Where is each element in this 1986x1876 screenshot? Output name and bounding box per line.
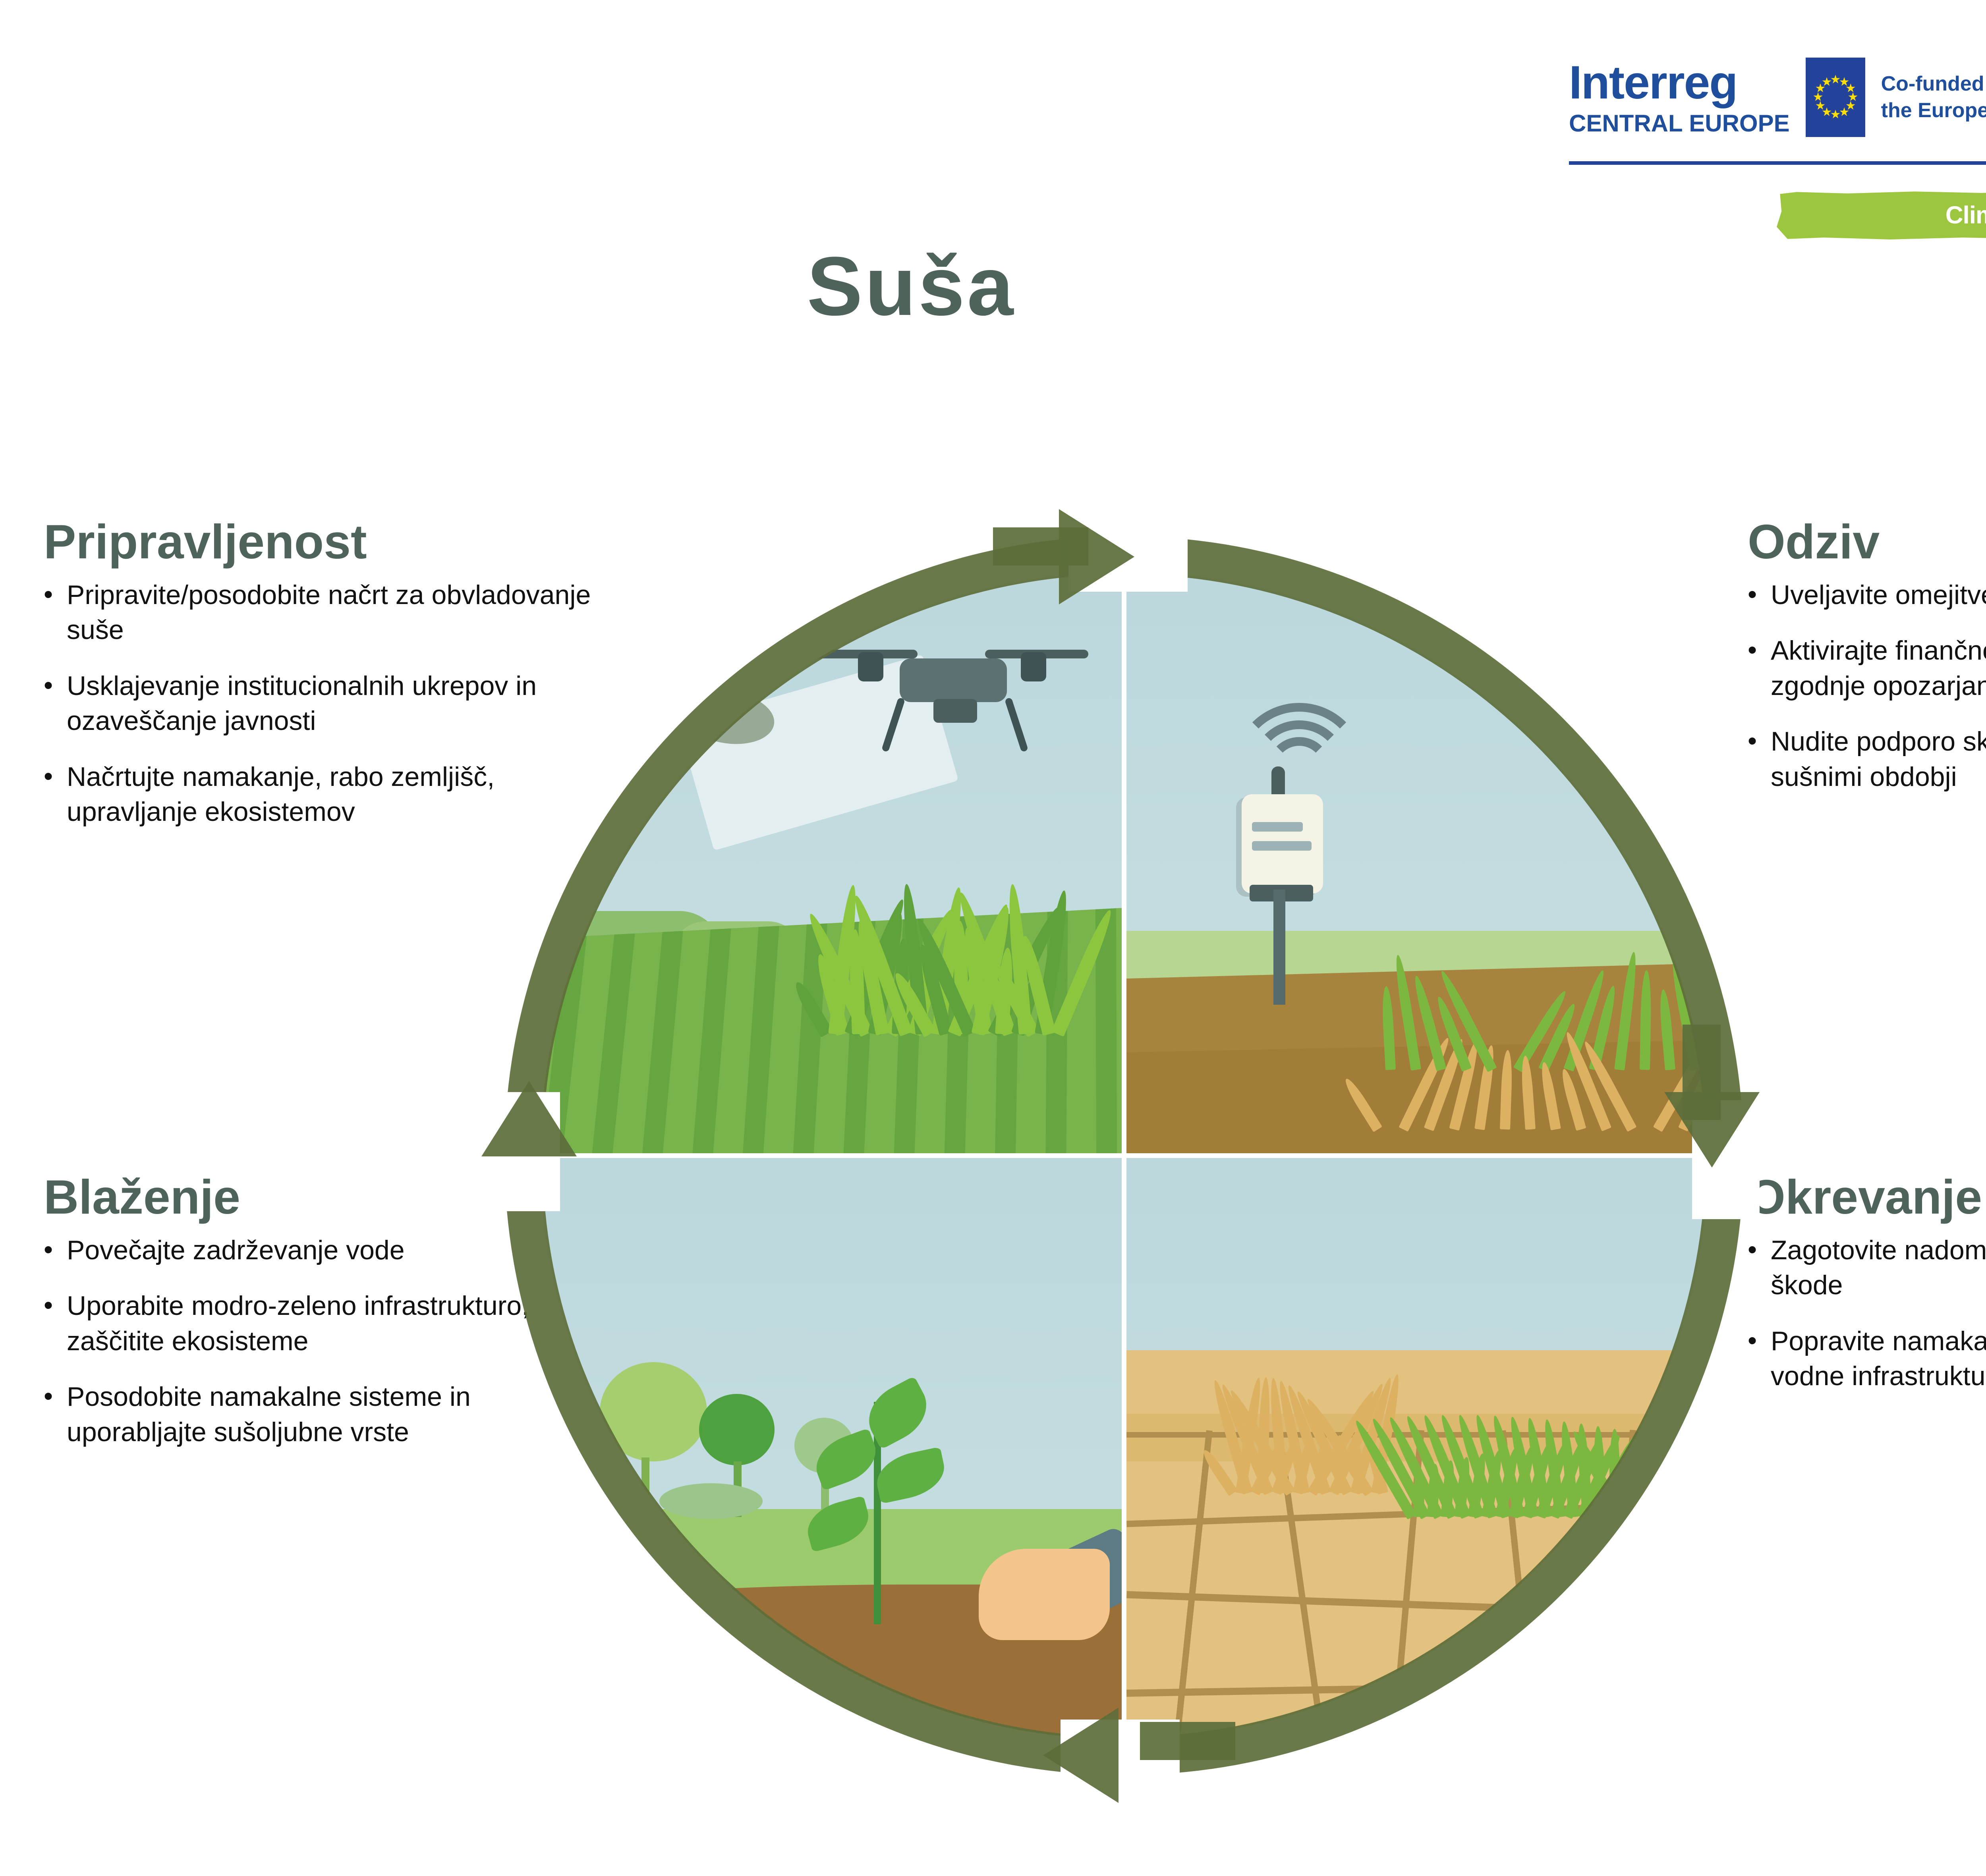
section-recovery: Okrevanje •Zagotovite nadomestilo za gos… [1748, 1172, 1986, 1415]
bullet-icon: • [44, 668, 67, 739]
arrow-top-icon [1059, 509, 1134, 604]
interreg-wordmark: Interreg CENTRAL EUROPE [1569, 59, 1790, 135]
arrow-tail-bottom [1140, 1722, 1235, 1760]
eu-star-icon: ★ [1822, 77, 1832, 87]
bullet-icon: • [1748, 633, 1771, 703]
section-heading-recovery: Okrevanje [1748, 1172, 1986, 1222]
bullet-icon: • [1748, 1233, 1771, 1303]
cycle-ring [504, 536, 1744, 1775]
eu-funding-line1: Co-funded by [1881, 71, 1986, 97]
interreg-subtitle: CENTRAL EUROPE [1569, 112, 1790, 135]
header-divider [1569, 161, 1986, 165]
drought-cycle-diagram [504, 536, 1744, 1775]
bullet-icon: • [44, 759, 67, 830]
list-item-text: Nudite podporo skupnostim med sušnimi ob… [1771, 724, 1986, 794]
list-item-text: Popravite namakalnih sistemov in vodne i… [1771, 1324, 1986, 1394]
clim4cast-badge: Clim4Cast [1775, 191, 1986, 239]
bullet-icon: • [1748, 577, 1771, 612]
interreg-logo: Interreg CENTRAL EUROPE ★★★★★★★★★★★★ Co-… [1569, 52, 1986, 143]
arrow-right-icon [1664, 1092, 1760, 1168]
list-item: •Uveljavite omejitve porabe vode [1748, 577, 1986, 612]
list-item-text: Uveljavite omejitve porabe vode [1771, 577, 1986, 612]
bullet-icon: • [44, 1379, 67, 1449]
bullet-icon: • [44, 577, 67, 648]
bullet-icon: • [1748, 1324, 1771, 1394]
bullet-list-recovery: •Zagotovite nadomestilo za gospodarske š… [1748, 1233, 1986, 1394]
bullet-icon: • [44, 1233, 67, 1268]
list-item: •Aktivirajte finančno pomoč, opozorila z… [1748, 633, 1986, 703]
bullet-list-response: •Uveljavite omejitve porabe vode •Aktivi… [1748, 577, 1986, 794]
list-item-text: Zagotovite nadomestilo za gospodarske šk… [1771, 1233, 1986, 1303]
page-title: Suša [0, 238, 1986, 334]
logo-block: Interreg CENTRAL EUROPE ★★★★★★★★★★★★ Co-… [1569, 52, 1986, 239]
arrow-bottom-icon [1043, 1708, 1119, 1803]
eu-flag-icon: ★★★★★★★★★★★★ [1806, 58, 1865, 137]
arrow-left-icon [481, 1081, 577, 1156]
bullet-icon: • [1748, 724, 1771, 794]
list-item-text: Povečajte zadrževanje vode [67, 1233, 405, 1268]
eu-funding-text: Co-funded by the European Union [1881, 71, 1986, 124]
list-item-text: Aktivirajte finančno pomoč, opozorila za… [1771, 633, 1986, 703]
section-response: Odziv •Uveljavite omejitve porabe vode •… [1748, 516, 1986, 815]
bullet-icon: • [44, 1288, 67, 1359]
eu-funding-line2: the European Union [1881, 97, 1986, 124]
list-item: •Nudite podporo skupnostim med sušnimi o… [1748, 724, 1986, 794]
clim4cast-label: Clim4Cast [1945, 201, 1986, 230]
list-item: •Popravite namakalnih sistemov in vodne … [1748, 1324, 1986, 1394]
interreg-name: Interreg [1569, 59, 1790, 106]
list-item: •Zagotovite nadomestilo za gospodarske š… [1748, 1233, 1986, 1303]
section-heading-response: Odziv [1748, 516, 1986, 567]
